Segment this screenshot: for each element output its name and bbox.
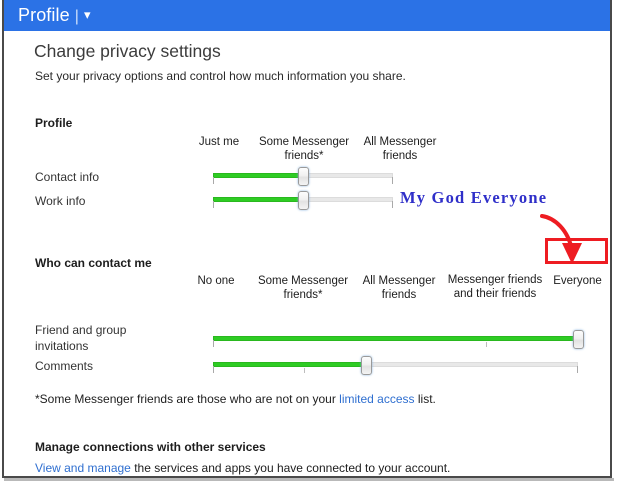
row-label-contact-info: Contact info (35, 169, 99, 185)
contact-column-everyone: Everyone (547, 274, 608, 288)
slider-tick-start (213, 366, 214, 373)
chevron-down-icon[interactable]: ▾ (84, 7, 91, 22)
contact-column-some-messenger-friends: Some Messenger friends* (252, 274, 354, 302)
slider-fill (213, 336, 578, 341)
slider-contact-info[interactable] (213, 167, 393, 185)
slider-tick-end (392, 201, 393, 208)
slider-tick-start (213, 201, 214, 208)
row-label-comments: Comments (35, 358, 93, 374)
footnote: *Some Messenger friends are those who ar… (35, 392, 436, 406)
manage-connections-description: the services and apps you have connected… (131, 461, 451, 475)
contact-column-all-messenger-friends: All Messenger friends (354, 274, 444, 302)
section-heading-profile: Profile (35, 116, 72, 130)
slider-work-info[interactable] (213, 191, 393, 209)
manage-connections-heading: Manage connections with other services (35, 440, 266, 454)
row-label-friend-and-group-invitations: Friend and group invitations (35, 322, 145, 354)
slider-tick-mid (304, 368, 305, 373)
window-title: Profile (18, 5, 70, 25)
view-and-manage-link[interactable]: View and manage (35, 461, 131, 475)
slider-thumb[interactable] (573, 330, 584, 349)
slider-thumb[interactable] (298, 167, 309, 186)
slider-tick-end (577, 366, 578, 373)
section-heading-who-can-contact-me: Who can contact me (35, 256, 152, 270)
manage-connections-text: View and manage the services and apps yo… (35, 461, 450, 475)
slider-comments[interactable] (213, 356, 578, 374)
contact-column-messenger-friends-and-their-friends: Messenger friends and their friends (442, 274, 548, 301)
slider-thumb[interactable] (361, 356, 372, 375)
slider-tick-start (213, 177, 214, 184)
slider-tick-end (392, 177, 393, 184)
page-subtitle: Set your privacy options and control how… (35, 69, 406, 83)
slider-friend-and-group-invitations[interactable] (213, 330, 578, 348)
slider-fill (213, 197, 303, 202)
slider-fill (213, 173, 303, 178)
slider-tick-start (213, 340, 214, 347)
slider-tick-mid (486, 342, 487, 347)
title-separator: | (70, 8, 84, 25)
page-title: Change privacy settings (34, 41, 221, 62)
footnote-suffix: list. (415, 392, 436, 406)
annotation-highlight-box-everyone (545, 238, 608, 264)
profile-column-some-messenger-friends: Some Messenger friends* (253, 135, 355, 163)
slider-thumb[interactable] (298, 191, 309, 210)
window-frame: Profile|▾ Change privacy settings Set yo… (2, 0, 612, 478)
title-bar: Profile|▾ (4, 0, 610, 31)
row-label-work-info: Work info (35, 193, 85, 209)
annotation-text: My God Everyone (400, 188, 547, 208)
profile-column-all-messenger-friends: All Messenger friends (355, 135, 445, 163)
window-frame-shadow (4, 478, 614, 481)
screenshot-root: Profile|▾ Change privacy settings Set yo… (0, 0, 620, 484)
limited-access-link[interactable]: limited access (339, 392, 414, 406)
profile-column-just-me: Just me (184, 135, 254, 149)
contact-column-no-one: No one (183, 274, 249, 288)
footnote-prefix: *Some Messenger friends are those who ar… (35, 392, 339, 406)
slider-fill (213, 362, 366, 367)
title-bar-content[interactable]: Profile|▾ (18, 3, 91, 29)
